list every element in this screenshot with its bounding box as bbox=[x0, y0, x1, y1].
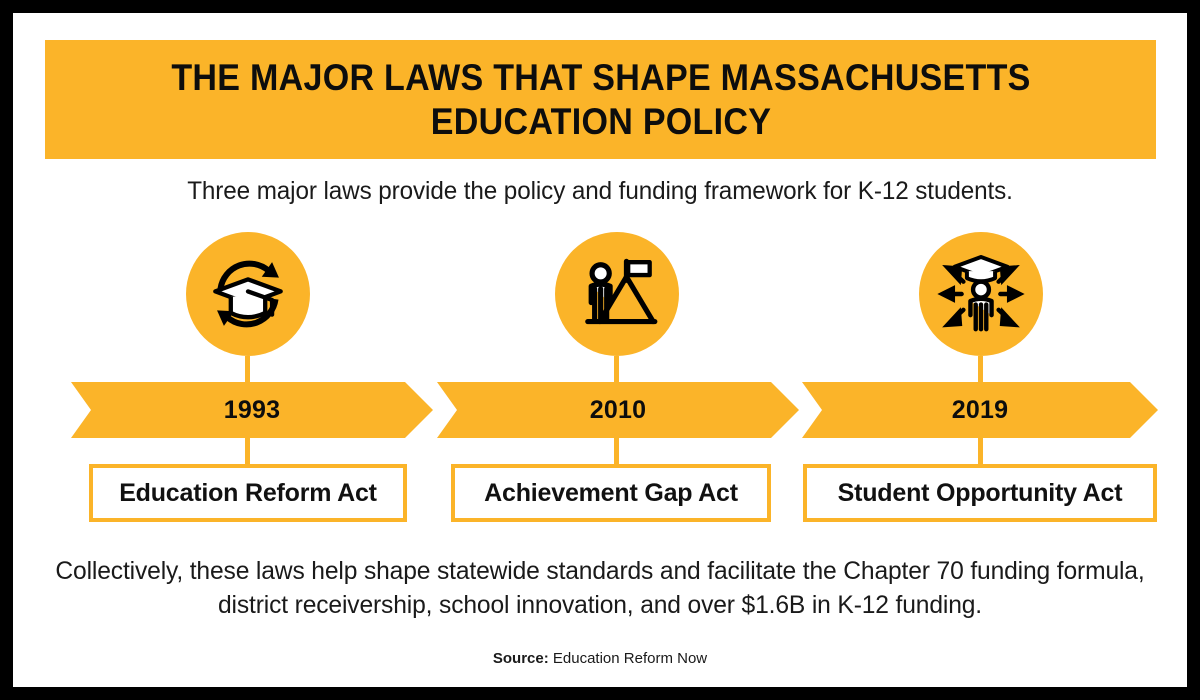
connector-bottom-3 bbox=[978, 438, 983, 464]
connector-bottom-1 bbox=[245, 438, 250, 464]
timeline-year-3: 2019 bbox=[952, 396, 1008, 425]
source-line: Source: Education Reform Now bbox=[13, 650, 1187, 667]
connector-top-3 bbox=[978, 356, 983, 382]
timeline-law-box-2: Achievement Gap Act bbox=[451, 464, 771, 522]
source-label: Source: bbox=[493, 650, 549, 667]
timeline-law-label-1: Education Reform Act bbox=[119, 479, 377, 508]
timeline-year-1: 1993 bbox=[224, 396, 280, 425]
timeline-icon-circle-3 bbox=[919, 232, 1043, 356]
connector-bottom-2 bbox=[614, 438, 619, 464]
timeline-year-banner-3: 2019 bbox=[802, 382, 1158, 438]
timeline-year-banner-1: 1993 bbox=[71, 382, 433, 438]
timeline-law-label-2: Achievement Gap Act bbox=[484, 479, 738, 508]
source-value: Education Reform Now bbox=[553, 650, 707, 667]
infographic-poster: THE MAJOR LAWS THAT SHAPE MASSACHUSETTS … bbox=[0, 0, 1200, 700]
timeline-law-box-3: Student Opportunity Act bbox=[803, 464, 1157, 522]
timeline-icon-circle-2 bbox=[555, 232, 679, 356]
timeline-year-banner-2: 2010 bbox=[437, 382, 799, 438]
footnote-text: Collectively, these laws help shape stat… bbox=[55, 555, 1144, 622]
graduation-cap-refresh-icon bbox=[205, 251, 291, 337]
poster-canvas: THE MAJOR LAWS THAT SHAPE MASSACHUSETTS … bbox=[13, 13, 1187, 687]
timeline-law-box-1: Education Reform Act bbox=[89, 464, 407, 522]
connector-top-2 bbox=[614, 356, 619, 382]
timeline-law-label-3: Student Opportunity Act bbox=[838, 479, 1123, 508]
connector-top-1 bbox=[245, 356, 250, 382]
person-mountain-flag-icon bbox=[574, 251, 660, 337]
timeline-year-2: 2010 bbox=[590, 396, 646, 425]
timeline-icon-circle-1 bbox=[186, 232, 310, 356]
person-graduation-arrows-icon bbox=[937, 250, 1025, 338]
